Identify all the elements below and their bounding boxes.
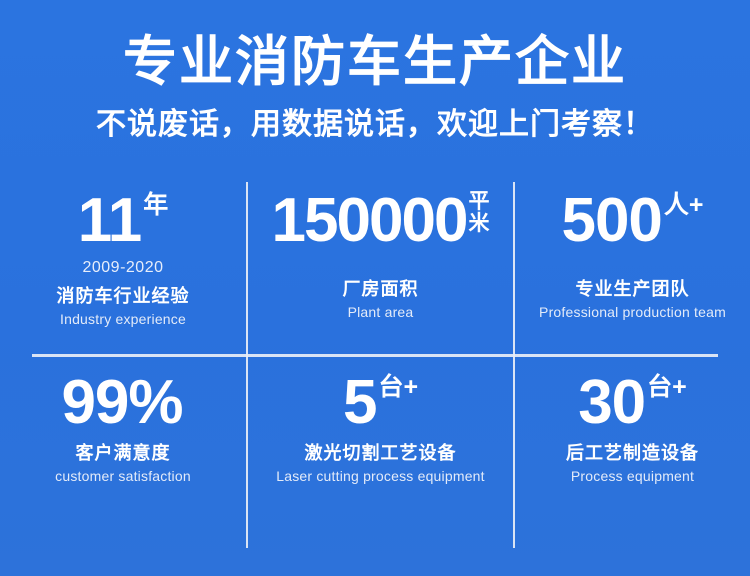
stat-unit: 台+	[378, 374, 418, 400]
stat-label-en: Plant area	[248, 304, 513, 320]
stat-cell-customer-satisfaction: 99% 客户满意度 customer satisfaction	[0, 372, 246, 484]
page-subtitle: 不说废话，用数据说话，欢迎上门考察！	[0, 106, 750, 144]
stat-cell-industry-experience: 11 年 2009-2020 消防车行业经验 Industry experien…	[0, 190, 246, 327]
stat-unit-bottom: 米	[468, 213, 489, 235]
stat-label-cn: 后工艺制造设备	[515, 439, 750, 465]
stat-unit-top: 平	[468, 191, 489, 213]
stat-cell-laser-cutting-equipment: 5 台+ 激光切割工艺设备 Laser cutting process equi…	[248, 372, 513, 484]
stat-unit: 平 米	[468, 191, 489, 235]
stat-label-cn: 厂房面积	[248, 275, 513, 301]
page-title: 专业消防车生产企业	[0, 30, 750, 94]
banner-header: 专业消防车生产企业 不说废话，用数据说话，欢迎上门考察！	[0, 30, 750, 144]
stat-cell-plant-area: 150000 平 米 厂房面积 Plant area	[248, 190, 513, 320]
stat-label-cn: 消防车行业经验	[0, 282, 246, 308]
stat-label-en: Professional production team	[515, 304, 750, 320]
stat-value-row: 5 台+	[248, 372, 513, 434]
stat-label-en: Laser cutting process equipment	[248, 468, 513, 484]
stat-number: 11	[78, 190, 142, 252]
stat-cell-production-team: 500 人+ 专业生产团队 Professional production te…	[515, 190, 750, 320]
stat-number: 30	[578, 372, 645, 434]
stat-label-en: Industry experience	[0, 311, 246, 327]
stat-number: 500	[561, 190, 661, 252]
stat-unit: 年	[143, 192, 168, 218]
stat-label-en: customer satisfaction	[0, 468, 246, 484]
stat-cell-process-equipment: 30 台+ 后工艺制造设备 Process equipment	[515, 372, 750, 484]
stat-label-cn: 激光切割工艺设备	[248, 439, 513, 465]
stat-number: 5	[343, 372, 376, 434]
stat-label-cn: 客户满意度	[0, 439, 246, 465]
horizontal-divider	[32, 354, 718, 357]
stat-label-en: Process equipment	[515, 468, 750, 484]
stat-number: 99%	[61, 372, 182, 434]
stat-value-row: 150000 平 米	[248, 190, 513, 252]
promo-banner: 专业消防车生产企业 不说废话，用数据说话，欢迎上门考察！ 11 年 2009-2…	[0, 0, 750, 576]
stat-value-row: 99%	[0, 372, 246, 434]
stat-number: 150000	[272, 190, 467, 252]
stat-label-cn: 专业生产团队	[515, 275, 750, 301]
stat-range: 2009-2020	[0, 259, 246, 277]
stat-unit: 人+	[664, 192, 704, 218]
stat-value-row: 30 台+	[515, 372, 750, 434]
stat-value-row: 500 人+	[515, 190, 750, 252]
stats-grid: 11 年 2009-2020 消防车行业经验 Industry experien…	[0, 182, 750, 550]
stat-unit: 台+	[647, 374, 687, 400]
stat-value-row: 11 年	[0, 190, 246, 252]
